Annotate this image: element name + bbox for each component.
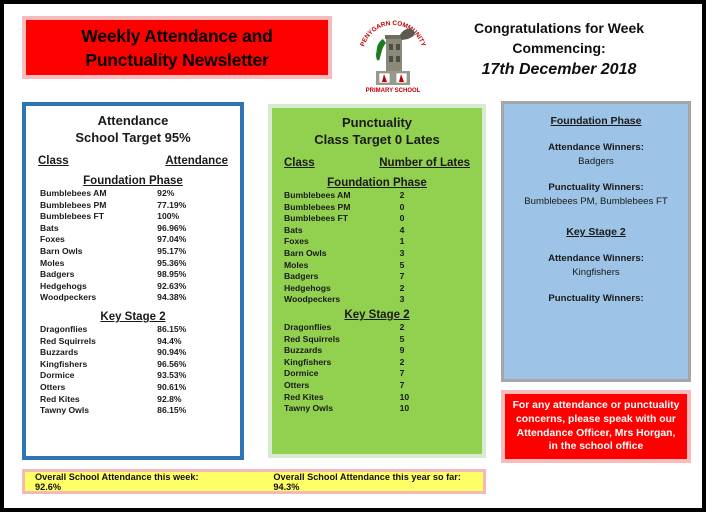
class-name: Kingfishers: [40, 359, 157, 371]
winners-fp-punctuality-label: Punctuality Winners:: [512, 181, 680, 195]
winners-fp-attendance-value: Badgers: [512, 155, 680, 169]
class-name: Woodpeckers: [40, 292, 157, 304]
table-row: Red Squirrels5: [284, 334, 470, 346]
newsletter-page: Weekly Attendance and Punctuality Newsle…: [0, 0, 706, 512]
overall-attendance-week: Overall School Attendance this week: 92.…: [35, 472, 221, 492]
class-value: 2: [396, 357, 470, 369]
table-row: Bumblebees FT0: [284, 213, 470, 225]
class-value: 94.38%: [157, 292, 226, 304]
class-name: Red Kites: [40, 394, 157, 406]
class-value: 92.63%: [157, 281, 226, 293]
attendance-section-fp-label: Foundation Phase: [83, 175, 183, 187]
class-name: Moles: [40, 258, 157, 270]
svg-text:PRIMARY SCHOOL: PRIMARY SCHOOL: [366, 88, 421, 94]
table-row: Badgers7: [284, 271, 470, 283]
punctuality-col-value: Number of Lates: [379, 157, 470, 169]
class-value: 7: [396, 368, 470, 380]
class-name: Tawny Owls: [284, 403, 396, 415]
class-name: Otters: [40, 382, 157, 394]
winners-fp-heading: Foundation Phase: [512, 114, 680, 129]
class-value: 7: [396, 380, 470, 392]
class-value: 7: [396, 271, 470, 283]
class-name: Buzzards: [40, 347, 157, 359]
attendance-section-ks2-label: Key Stage 2: [100, 311, 165, 323]
class-value: 92%: [157, 188, 226, 200]
school-crest-icon: PENYGARN COMMUNITY PR: [356, 13, 430, 95]
class-name: Hedgehogs: [40, 281, 157, 293]
header: Weekly Attendance and Punctuality Newsle…: [4, 4, 702, 94]
class-value: 5: [396, 334, 470, 346]
class-name: Bumblebees PM: [40, 200, 157, 212]
class-name: Red Squirrels: [40, 336, 157, 348]
class-value: 90.61%: [157, 382, 226, 394]
class-name: Kingfishers: [284, 357, 396, 369]
class-value: 2: [396, 322, 470, 334]
class-name: Dragonflies: [40, 324, 157, 336]
table-row: Badgers98.95%: [40, 269, 226, 281]
table-row: Hedgehogs92.63%: [40, 281, 226, 293]
winners-panel: Foundation Phase Attendance Winners: Bad…: [501, 101, 691, 382]
table-row: Dormice7: [284, 368, 470, 380]
class-name: Red Squirrels: [284, 334, 396, 346]
table-row: Buzzards9: [284, 345, 470, 357]
winners-fp-attendance-label: Attendance Winners:: [512, 141, 680, 155]
class-value: 77.19%: [157, 200, 226, 212]
class-name: Bumblebees AM: [284, 190, 396, 202]
class-value: 93.53%: [157, 370, 226, 382]
class-value: 98.95%: [157, 269, 226, 281]
attendance-ks2-rows: Dragonflies86.15%Red Squirrels94.4%Buzza…: [26, 323, 240, 417]
page-title-line1: Weekly Attendance and: [81, 24, 272, 48]
class-value: 5: [396, 260, 470, 272]
attendance-title: Attendance: [26, 106, 240, 129]
class-name: Dormice: [40, 370, 157, 382]
attendance-panel: Attendance School Target 95% Class Atten…: [22, 102, 244, 460]
winners-ks2-punctuality-label: Punctuality Winners:: [512, 292, 680, 306]
class-value: 97.04%: [157, 234, 226, 246]
punctuality-section-ks2: Key Stage 2: [272, 309, 482, 321]
table-row: Moles5: [284, 260, 470, 272]
class-value: 9: [396, 345, 470, 357]
class-value: 95.17%: [157, 246, 226, 258]
table-row: Bats96.96%: [40, 223, 226, 235]
class-name: Dormice: [284, 368, 396, 380]
class-name: Buzzards: [284, 345, 396, 357]
congratulations-line: Congratulations for Week Commencing:: [428, 18, 690, 58]
class-value: 96.96%: [157, 223, 226, 235]
attendance-concerns-text: For any attendance or punctuality concer…: [505, 399, 687, 453]
class-value: 90.94%: [157, 347, 226, 359]
table-row: Bumblebees PM0: [284, 202, 470, 214]
table-row: Dormice93.53%: [40, 370, 226, 382]
punctuality-section-fp-label: Foundation Phase: [327, 177, 427, 189]
class-name: Tawny Owls: [40, 405, 157, 417]
class-value: 95.36%: [157, 258, 226, 270]
table-row: Red Kites10: [284, 392, 470, 404]
page-title-line2: Punctuality Newsletter: [85, 48, 268, 72]
attendance-column-headers: Class Attendance: [26, 146, 240, 167]
table-row: Tawny Owls10: [284, 403, 470, 415]
attendance-section-ks2: Key Stage 2: [26, 311, 240, 323]
class-name: Bumblebees FT: [40, 211, 157, 223]
table-row: Moles95.36%: [40, 258, 226, 270]
week-commencing-date: 17th December 2018: [428, 58, 690, 82]
class-name: Dragonflies: [284, 322, 396, 334]
punctuality-column-headers: Class Number of Lates: [272, 148, 482, 169]
attendance-col-value: Attendance: [165, 155, 228, 167]
class-value: 92.8%: [157, 394, 226, 406]
attendance-foundation-rows: Bumblebees AM92%Bumblebees PM77.19%Bumbl…: [26, 187, 240, 304]
table-row: Barn Owls95.17%: [40, 246, 226, 258]
congratulations-block: Congratulations for Week Commencing: 17t…: [428, 18, 690, 82]
table-row: Bumblebees FT100%: [40, 211, 226, 223]
table-row: Red Kites92.8%: [40, 394, 226, 406]
class-value: 86.15%: [157, 405, 226, 417]
table-row: Red Squirrels94.4%: [40, 336, 226, 348]
table-row: Tawny Owls86.15%: [40, 405, 226, 417]
table-row: Dragonflies2: [284, 322, 470, 334]
overall-attendance-year: Overall School Attendance this year so f…: [273, 472, 483, 492]
winners-ks2-heading-label: Key Stage 2: [566, 226, 626, 238]
punctuality-subtitle: Class Target 0 Lates: [272, 131, 482, 148]
table-row: Barn Owls3: [284, 248, 470, 260]
table-row: Bumblebees AM92%: [40, 188, 226, 200]
class-name: Bumblebees AM: [40, 188, 157, 200]
punctuality-panel: Punctuality Class Target 0 Lates Class N…: [268, 104, 486, 458]
overall-attendance-bar: Overall School Attendance this week: 92.…: [22, 469, 486, 494]
winners-ks2-attendance-label: Attendance Winners:: [512, 252, 680, 266]
class-value: 3: [396, 294, 470, 306]
class-name: Barn Owls: [284, 248, 396, 260]
table-row: Otters90.61%: [40, 382, 226, 394]
punctuality-foundation-rows: Bumblebees AM2Bumblebees PM0Bumblebees F…: [272, 189, 482, 306]
table-row: Kingfishers2: [284, 357, 470, 369]
class-value: 100%: [157, 211, 226, 223]
class-value: 10: [396, 403, 470, 415]
class-name: Badgers: [284, 271, 396, 283]
class-value: 10: [396, 392, 470, 404]
table-row: Buzzards90.94%: [40, 347, 226, 359]
attendance-concerns-note: For any attendance or punctuality concer…: [501, 390, 691, 463]
table-row: Woodpeckers3: [284, 294, 470, 306]
class-name: Bats: [40, 223, 157, 235]
class-value: 3: [396, 248, 470, 260]
class-value: 96.56%: [157, 359, 226, 371]
class-name: Otters: [284, 380, 396, 392]
table-row: Woodpeckers94.38%: [40, 292, 226, 304]
class-name: Badgers: [40, 269, 157, 281]
punctuality-title: Punctuality: [272, 108, 482, 131]
table-row: Bumblebees PM77.19%: [40, 200, 226, 212]
class-name: Foxes: [284, 236, 396, 248]
class-value: 2: [396, 190, 470, 202]
table-row: Bumblebees AM2: [284, 190, 470, 202]
winners-fp-punctuality-value: Bumblebees PM, Bumblebees FT: [512, 195, 680, 209]
winners-ks2-heading: Key Stage 2: [512, 225, 680, 240]
table-row: Otters7: [284, 380, 470, 392]
class-name: Hedgehogs: [284, 283, 396, 295]
class-name: Woodpeckers: [284, 294, 396, 306]
class-name: Bats: [284, 225, 396, 237]
attendance-subtitle: School Target 95%: [26, 129, 240, 146]
table-row: Kingfishers96.56%: [40, 359, 226, 371]
winners-fp-heading-label: Foundation Phase: [550, 115, 641, 127]
attendance-section-foundation: Foundation Phase: [26, 175, 240, 187]
punctuality-section-foundation: Foundation Phase: [272, 177, 482, 189]
class-name: Red Kites: [284, 392, 396, 404]
class-value: 1: [396, 236, 470, 248]
class-name: Bumblebees PM: [284, 202, 396, 214]
table-row: Hedgehogs2: [284, 283, 470, 295]
table-row: Foxes97.04%: [40, 234, 226, 246]
class-name: Foxes: [40, 234, 157, 246]
class-name: Bumblebees FT: [284, 213, 396, 225]
class-name: Moles: [284, 260, 396, 272]
punctuality-col-class: Class: [284, 157, 315, 169]
attendance-col-class: Class: [38, 155, 69, 167]
newsletter-title-box: Weekly Attendance and Punctuality Newsle…: [22, 16, 332, 79]
class-value: 0: [396, 202, 470, 214]
table-row: Bats4: [284, 225, 470, 237]
class-value: 2: [396, 283, 470, 295]
class-value: 86.15%: [157, 324, 226, 336]
class-name: Barn Owls: [40, 246, 157, 258]
school-logo: PENYGARN COMMUNITY PR: [356, 13, 430, 95]
table-row: Foxes1: [284, 236, 470, 248]
table-row: Dragonflies86.15%: [40, 324, 226, 336]
punctuality-section-ks2-label: Key Stage 2: [344, 309, 409, 321]
class-value: 0: [396, 213, 470, 225]
class-value: 4: [396, 225, 470, 237]
punctuality-ks2-rows: Dragonflies2Red Squirrels5Buzzards9Kingf…: [272, 321, 482, 415]
class-value: 94.4%: [157, 336, 226, 348]
winners-ks2-attendance-value: Kingfishers: [512, 266, 680, 280]
